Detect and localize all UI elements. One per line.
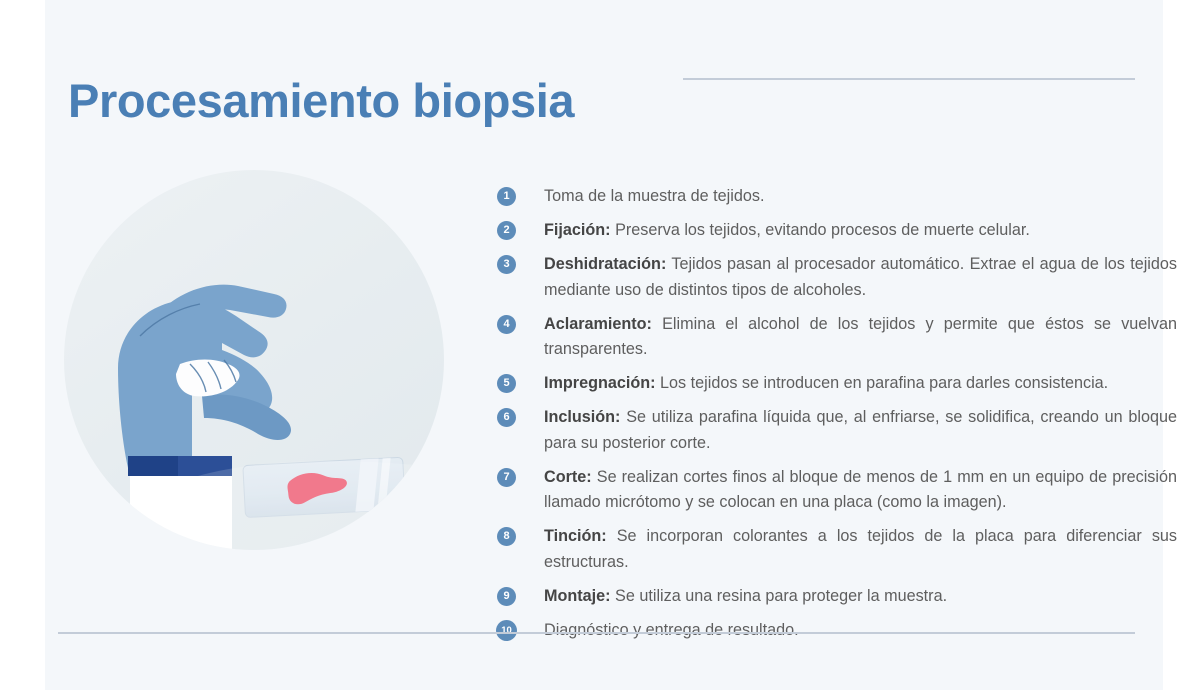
step-text: Impregnación: Los tejidos se introducen … xyxy=(544,371,1177,397)
list-item: 6 Inclusión: Se utiliza parafina líquida… xyxy=(497,405,1177,456)
step-body: Se incorporan colorantes a los tejidos d… xyxy=(544,527,1177,571)
step-number-badge: 6 xyxy=(497,408,516,427)
step-number-badge: 2 xyxy=(497,221,516,240)
title-divider xyxy=(683,78,1135,80)
step-lead: Montaje: xyxy=(544,587,611,605)
step-body: Se utiliza una resina para proteger la m… xyxy=(615,587,947,605)
step-lead: Impregnación: xyxy=(544,374,656,392)
list-item: 2 Fijación: Preserva los tejidos, evitan… xyxy=(497,218,1177,244)
step-lead: Fijación: xyxy=(544,221,611,239)
step-text: Inclusión: Se utiliza parafina líquida q… xyxy=(544,405,1177,456)
step-number-badge: 7 xyxy=(497,468,516,487)
list-item: 10 Diagnóstico y entrega de resultado. xyxy=(497,618,1177,644)
step-number-badge: 4 xyxy=(497,315,516,334)
list-item: 8 Tinción: Se incorporan colorantes a lo… xyxy=(497,524,1177,575)
step-text: Corte: Se realizan cortes finos al bloqu… xyxy=(544,465,1177,516)
step-text: Fijación: Preserva los tejidos, evitando… xyxy=(544,218,1177,244)
step-number-badge: 3 xyxy=(497,255,516,274)
list-item: 9 Montaje: Se utiliza una resina para pr… xyxy=(497,584,1177,610)
illustration-gloved-hand-slide xyxy=(62,168,446,552)
footer-divider xyxy=(58,632,1135,634)
list-item: 3 Deshidratación: Tejidos pasan al proce… xyxy=(497,252,1177,303)
steps-list: 1 Toma de la muestra de tejidos. 2 Fijac… xyxy=(457,184,1177,652)
step-number-badge: 9 xyxy=(497,587,516,606)
step-number-badge: 5 xyxy=(497,374,516,393)
step-text: Tinción: Se incorporan colorantes a los … xyxy=(544,524,1177,575)
step-text: Diagnóstico y entrega de resultado. xyxy=(544,618,1177,644)
step-body: Preserva los tejidos, evitando procesos … xyxy=(615,221,1030,239)
page-title: Procesamiento biopsia xyxy=(68,75,574,127)
list-item: 7 Corte: Se realizan cortes finos al blo… xyxy=(497,465,1177,516)
step-text: Toma de la muestra de tejidos. xyxy=(544,184,1177,210)
list-item: 1 Toma de la muestra de tejidos. xyxy=(497,184,1177,210)
step-text: Deshidratación: Tejidos pasan al procesa… xyxy=(544,252,1177,303)
list-item: 4 Aclaramiento: Elimina el alcohol de lo… xyxy=(497,312,1177,363)
cuff-navy-band-left xyxy=(128,456,178,476)
step-body: Diagnóstico y entrega de resultado. xyxy=(544,621,799,639)
step-body: Se realizan cortes finos al bloque de me… xyxy=(544,468,1177,512)
step-text: Aclaramiento: Elimina el alcohol de los … xyxy=(544,312,1177,363)
step-lead: Deshidratación: xyxy=(544,255,666,273)
step-lead: Inclusión: xyxy=(544,408,620,426)
step-number-badge: 8 xyxy=(497,527,516,546)
step-body: Los tejidos se introducen en parafina pa… xyxy=(660,374,1108,392)
list-item: 5 Impregnación: Los tejidos se introduce… xyxy=(497,371,1177,397)
step-body: Se utiliza parafina líquida que, al enfr… xyxy=(544,408,1177,452)
step-lead: Tinción: xyxy=(544,527,607,545)
step-body: Toma de la muestra de tejidos. xyxy=(544,187,764,205)
step-text: Montaje: Se utiliza una resina para prot… xyxy=(544,584,1177,610)
step-number-badge: 10 xyxy=(496,620,517,641)
step-lead: Aclaramiento: xyxy=(544,315,652,333)
step-number-badge: 1 xyxy=(497,187,516,206)
step-lead: Corte: xyxy=(544,468,592,486)
slide-root: Procesamiento biopsia xyxy=(0,0,1200,690)
